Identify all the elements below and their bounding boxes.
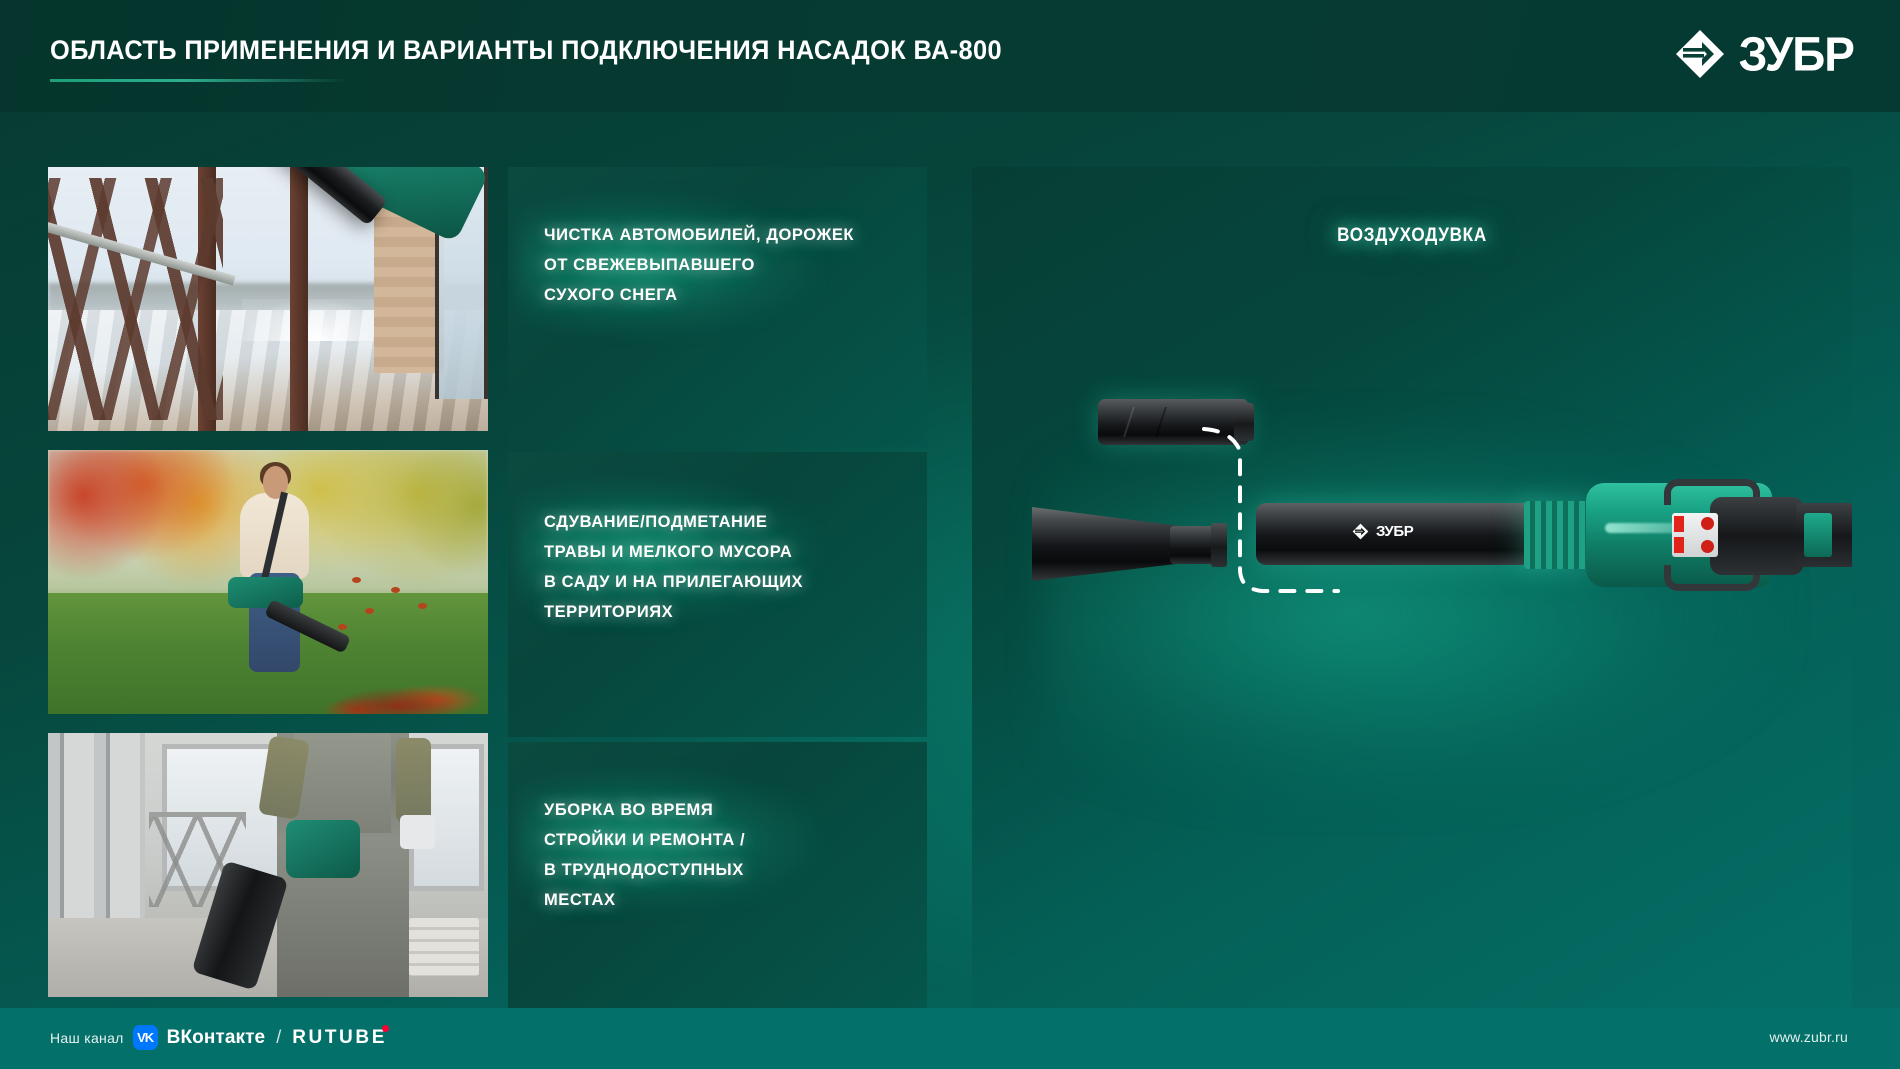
blower-speed-button-icon [1701, 540, 1714, 553]
social-prefix-label: Наш канал [50, 1030, 124, 1046]
diagram-title: ВОЗДУХОДУВКА [1016, 225, 1808, 247]
photo-snow-terrace [48, 167, 488, 431]
slide-root: ОБЛАСТЬ ПРИМЕНЕНИЯ И ВАРИАНТЫ ПОДКЛЮЧЕНИ… [0, 0, 1900, 1069]
logo-wordmark: ЗУБР [1739, 30, 1854, 78]
slide-header: ОБЛАСТЬ ПРИМЕНЕНИЯ И ВАРИАНТЫ ПОДКЛЮЧЕНИ… [0, 0, 1900, 112]
page-title: ОБЛАСТЬ ПРИМЕНЕНИЯ И ВАРИАНТЫ ПОДКЛЮЧЕНИ… [50, 35, 1002, 66]
title-underline-accent [50, 79, 350, 82]
part-blower-body [1524, 473, 1852, 597]
vk-link[interactable]: ВКонтакте [167, 1027, 266, 1049]
photo-construction-site [48, 733, 488, 997]
extension-tube-brand-word: ЗУБР [1376, 523, 1413, 540]
social-separator: / [274, 1027, 283, 1048]
rutube-label: RUTUBE [292, 1027, 387, 1048]
usecase-text-2: СДУВАНИЕ/ПОДМЕТАНИЕ ТРАВЫ И МЕЛКОГО МУСО… [544, 507, 904, 627]
usecase-text-3: УБОРКА ВО ВРЕМЯ СТРОЙКИ И РЕМОНТА / В ТР… [544, 795, 904, 915]
vk-icon[interactable]: VK [133, 1025, 158, 1050]
rutube-dot-icon [382, 1025, 389, 1032]
blower-handle [1710, 497, 1804, 575]
usecase-text-panel-1: ЧИСТКА АВТОМОБИЛЕЙ, ДОРОЖЕК ОТ СВЕЖЕВЫПА… [508, 167, 927, 447]
zubr-diamond-arrow-icon-small [1352, 523, 1369, 540]
slide-footer: Наш канал VK ВКонтакте / RUTUBE www.zubr… [0, 1008, 1900, 1069]
blower-control-panel [1672, 513, 1718, 557]
part-flat-fan-nozzle [1032, 507, 1222, 581]
website-url[interactable]: www.zubr.ru [1770, 1029, 1848, 1045]
extension-tube-brand: ЗУБР [1352, 523, 1413, 540]
flat-nozzle-cone [1032, 507, 1182, 581]
rutube-link[interactable]: RUTUBE [292, 1027, 387, 1049]
product-diagram-panel: ВОЗДУХОДУВКА [972, 167, 1852, 1008]
usecase-text-panel-3: УБОРКА ВО ВРЕМЯ СТРОЙКИ И РЕМОНТА / В ТР… [508, 742, 927, 1008]
blower-battery-pack [1796, 503, 1852, 567]
part-extension-tube: ЗУБР [1256, 503, 1544, 565]
blower-power-button-icon [1701, 517, 1714, 530]
usecase-text-1: ЧИСТКА АВТОМОБИЛЕЙ, ДОРОЖЕК ОТ СВЕЖЕВЫПА… [544, 220, 904, 310]
brand-logo: ЗУБР [1674, 26, 1854, 82]
usecase-text-panel-2: СДУВАНИЕ/ПОДМЕТАНИЕ ТРАВЫ И МЕЛКОГО МУСО… [508, 452, 927, 737]
social-links: Наш канал VK ВКонтакте / RUTUBE [50, 1025, 387, 1050]
zubr-diamond-arrow-icon [1674, 28, 1726, 80]
photo-autumn-garden [48, 450, 488, 714]
